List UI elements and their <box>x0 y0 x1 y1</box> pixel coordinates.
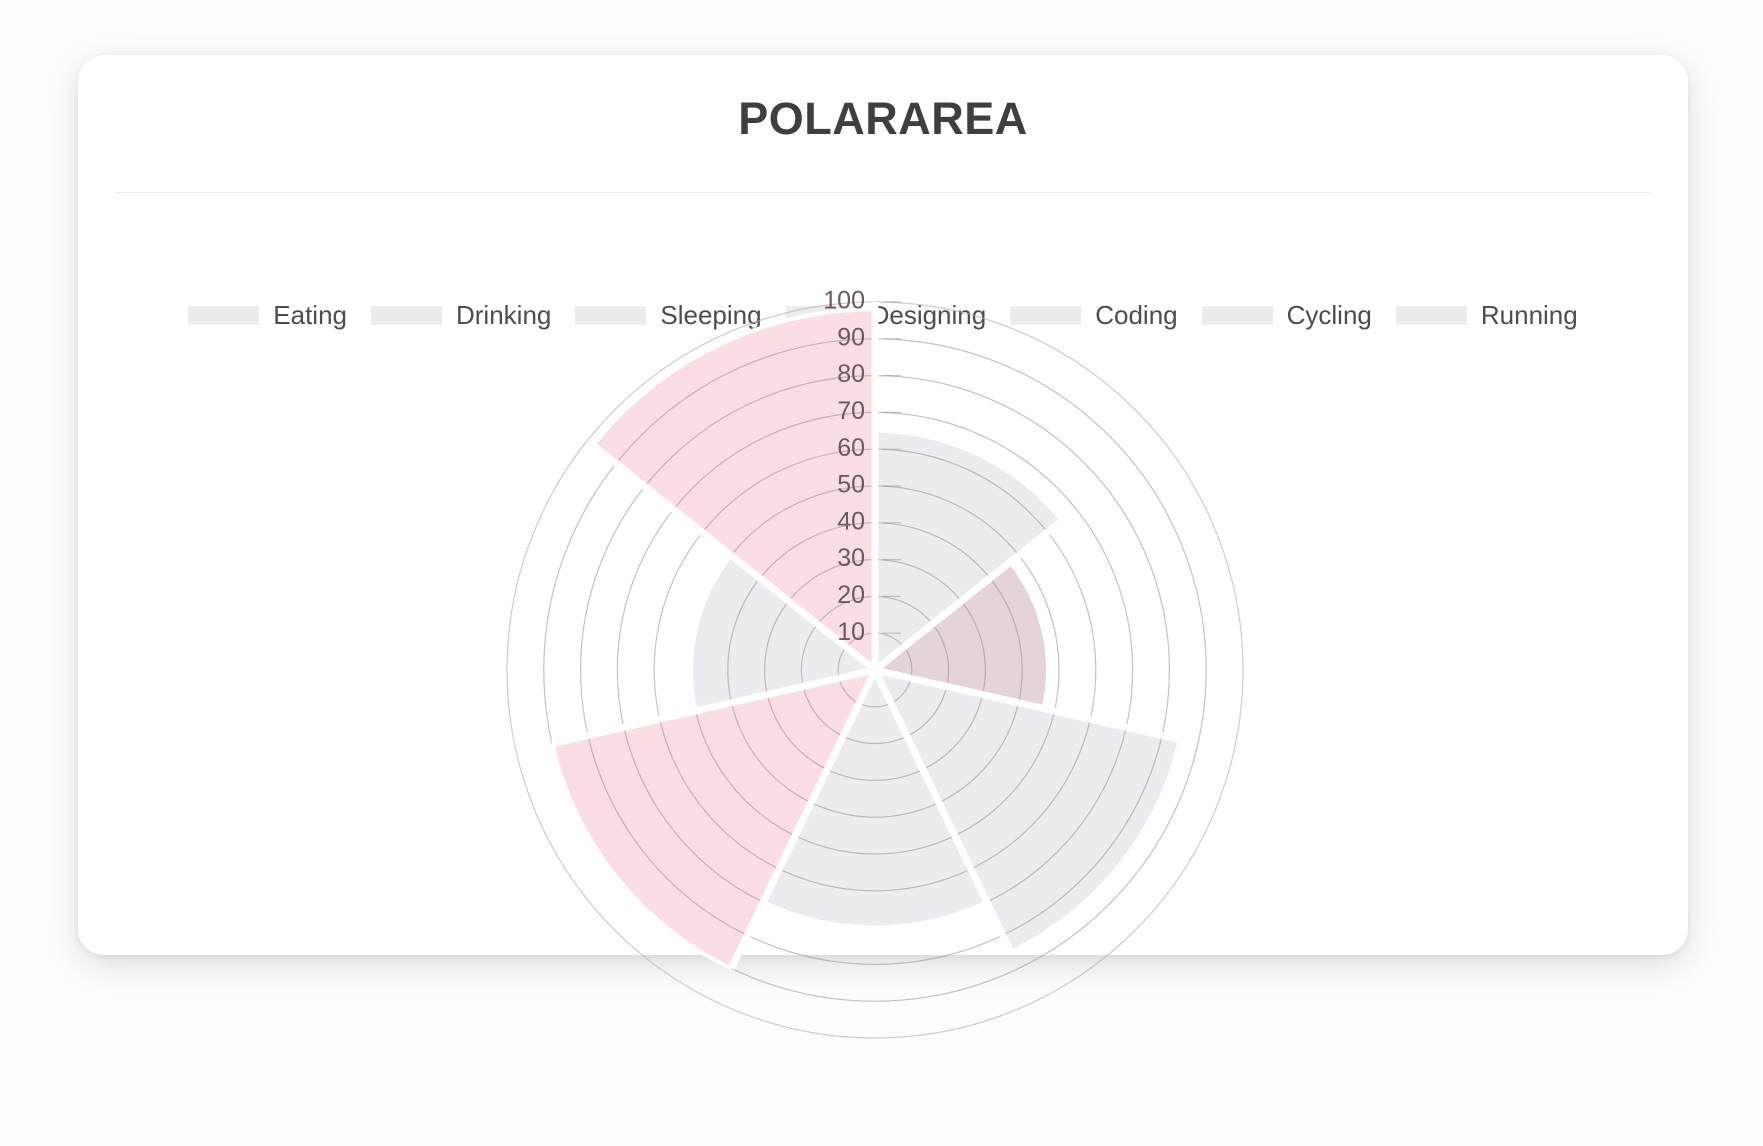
polar-sector-designing[interactable] <box>763 670 987 928</box>
legend-swatch-icon <box>1396 306 1467 325</box>
legend-swatch-icon <box>188 306 259 325</box>
radial-tick-label-80: 80 <box>837 360 865 388</box>
legend-item-coding[interactable]: Coding <box>1010 300 1177 331</box>
radial-tick-label-60: 60 <box>837 434 865 462</box>
sector-edge-2 <box>1011 740 1180 952</box>
title-divider <box>116 192 1650 193</box>
polar-area-svg: 100908070605040302010 <box>78 55 1688 955</box>
page-title: POLARAREA <box>78 93 1688 145</box>
sector-edge-5 <box>691 555 731 711</box>
sector-edge-3 <box>763 902 987 928</box>
legend-swatch-icon <box>371 306 442 325</box>
legend-label: Cycling <box>1287 300 1372 331</box>
grid-ring-10 <box>838 633 912 707</box>
grid-ring-50 <box>691 486 1059 854</box>
legend-item-cycling[interactable]: Cycling <box>1202 300 1372 331</box>
grid-ring-90 <box>544 339 1206 1001</box>
legend-swatch-icon <box>575 306 646 325</box>
radial-tick-label-70: 70 <box>837 397 865 425</box>
radial-tick-label-30: 30 <box>837 544 865 572</box>
sector-edge-4 <box>552 744 731 969</box>
legend-item-designing[interactable]: Designing <box>786 300 987 331</box>
radial-tick-label-50: 50 <box>837 471 865 499</box>
polar-sector-drinking[interactable] <box>875 562 1048 708</box>
legend-label: Designing <box>871 300 987 331</box>
sector-edge-1 <box>1010 562 1048 708</box>
radial-tick-label-20: 20 <box>837 581 865 609</box>
sector-separator-5 <box>552 670 875 744</box>
legend-item-eating[interactable]: Eating <box>188 300 347 331</box>
sector-edge-0 <box>875 431 1062 521</box>
sector-separator-4 <box>731 670 875 968</box>
chart-card: POLARAREA EatingDrinkingSleepingDesignin… <box>78 55 1688 955</box>
grid-ring-30 <box>765 560 986 781</box>
chart-legend: EatingDrinkingSleepingDesigningCodingCyc… <box>78 300 1688 331</box>
radial-tick-label-10: 10 <box>837 618 865 646</box>
legend-swatch-icon <box>1010 306 1081 325</box>
radial-tick-label-40: 40 <box>837 507 865 535</box>
legend-item-drinking[interactable]: Drinking <box>371 300 551 331</box>
legend-label: Sleeping <box>660 300 761 331</box>
sector-separator-3 <box>875 670 1011 952</box>
polar-area-chart: 100908070605040302010 <box>78 55 1688 955</box>
radial-tick-labels-layer: 100908070605040302010 <box>823 287 901 646</box>
grid-ring-20 <box>801 596 948 743</box>
grid-ring-100 <box>507 302 1243 1038</box>
grid-ring-60 <box>654 449 1096 891</box>
grid-ring-70 <box>617 412 1132 927</box>
legend-item-sleeping[interactable]: Sleeping <box>575 300 761 331</box>
sector-separator-6 <box>593 445 875 670</box>
polar-sector-running[interactable] <box>593 309 875 670</box>
polar-sector-cycling[interactable] <box>691 555 875 711</box>
legend-item-running[interactable]: Running <box>1396 300 1578 331</box>
polar-sector-eating[interactable] <box>875 431 1062 670</box>
sector-separator-1 <box>875 521 1062 670</box>
legend-label: Running <box>1481 300 1578 331</box>
polar-sector-sleeping[interactable] <box>875 670 1180 952</box>
legend-label: Drinking <box>456 300 551 331</box>
radial-grid-layer <box>507 302 1243 1038</box>
grid-ring-40 <box>728 523 1022 817</box>
legend-label: Coding <box>1095 300 1177 331</box>
sector-separators-layer <box>552 302 1180 968</box>
page-root: POLARAREA EatingDrinkingSleepingDesignin… <box>0 0 1763 1146</box>
legend-label: Eating <box>273 300 347 331</box>
sector-separator-2 <box>875 670 1180 740</box>
legend-swatch-icon <box>1202 306 1273 325</box>
legend-swatch-icon <box>786 306 857 325</box>
grid-ring-80 <box>581 376 1170 965</box>
polar-sector-coding[interactable] <box>552 670 875 968</box>
sectors-layer <box>552 309 1180 968</box>
